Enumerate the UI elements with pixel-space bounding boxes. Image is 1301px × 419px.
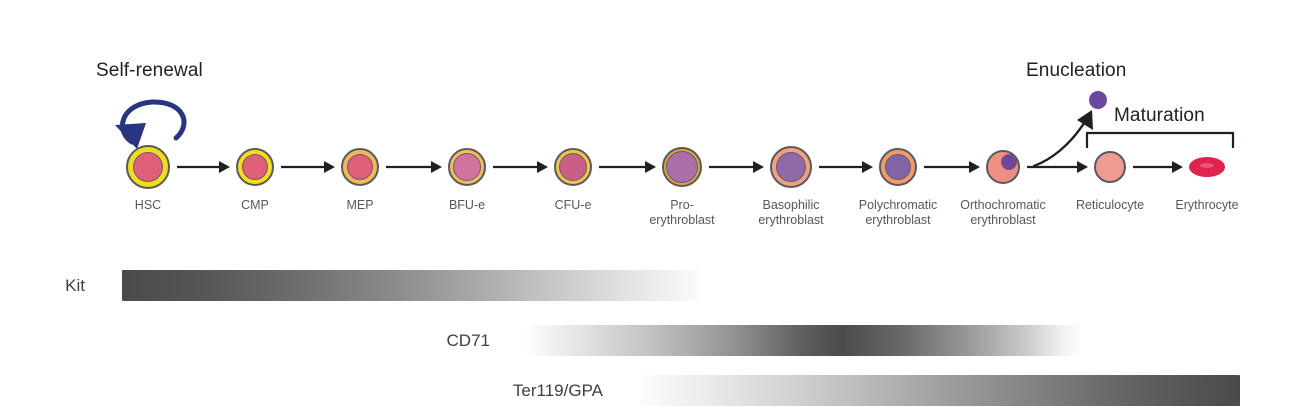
stage-label-mep: MEP xyxy=(300,198,420,213)
arrow-mep-to-bfu-e xyxy=(386,160,442,174)
stage-label-basophilic: Basophilic erythroblast xyxy=(731,198,851,228)
arrow-basophilic-to-polychromatic xyxy=(819,160,873,174)
stage-label-cmp: CMP xyxy=(195,198,315,213)
arrow-cmp-to-mep xyxy=(281,160,335,174)
arrow-orthochromatic-to-reticulocyte xyxy=(1027,160,1088,174)
stage-label-erythrocyte: Erythrocyte xyxy=(1147,198,1267,213)
marker-label-kit: Kit xyxy=(0,276,85,296)
maturation-title: Maturation xyxy=(1114,105,1205,127)
marker-bar-ter119-gpa xyxy=(640,375,1240,406)
erythrocyte-highlight xyxy=(1200,163,1214,168)
self-renewal-title: Self-renewal xyxy=(96,60,203,82)
arrow-hsc-to-cmp xyxy=(177,160,230,174)
enucleation-title: Enucleation xyxy=(1026,60,1126,82)
nucleus-hsc xyxy=(133,152,163,182)
arrow-reticulocyte-to-erythrocyte xyxy=(1133,160,1183,174)
stage-label-pro-erythroblast: Pro- erythroblast xyxy=(622,198,742,228)
arrow-pro-erythroblast-to-basophilic xyxy=(709,160,764,174)
stage-label-bfu-e: BFU-e xyxy=(407,198,527,213)
stage-label-polychromatic: Polychromatic erythroblast xyxy=(838,198,958,228)
cell-reticulocyte xyxy=(1094,151,1126,183)
nucleus-cfu-e xyxy=(559,153,587,181)
self-renewal-arrow xyxy=(96,92,211,154)
nucleus-mep xyxy=(347,154,373,180)
arrow-cfu-e-to-pro-erythroblast xyxy=(599,160,656,174)
nucleus-bfu-e xyxy=(453,153,481,181)
nucleus-cmp xyxy=(242,154,268,180)
marker-bar-cd71 xyxy=(527,325,1080,356)
arrow-bfu-e-to-cfu-e xyxy=(493,160,548,174)
nucleus-polychromatic xyxy=(885,154,911,180)
nucleus-pro-erythroblast xyxy=(666,151,698,183)
stage-label-orthochromatic: Orthochromatic erythroblast xyxy=(943,198,1063,228)
erythropoiesis-diagram: Self-renewal Enucleation Maturation HSCC… xyxy=(0,0,1301,419)
nucleus-orthochromatic xyxy=(1001,154,1017,170)
marker-label-cd71: CD71 xyxy=(290,331,490,351)
stage-label-cfu-e: CFU-e xyxy=(513,198,633,213)
arrow-polychromatic-to-orthochromatic xyxy=(924,160,980,174)
nucleus-basophilic xyxy=(776,152,806,182)
marker-label-ter119-gpa: Ter119/GPA xyxy=(403,381,603,401)
maturation-bracket xyxy=(1085,131,1235,149)
marker-bar-kit xyxy=(122,270,700,301)
stage-label-hsc: HSC xyxy=(88,198,208,213)
expelled-nucleus xyxy=(1089,91,1107,109)
